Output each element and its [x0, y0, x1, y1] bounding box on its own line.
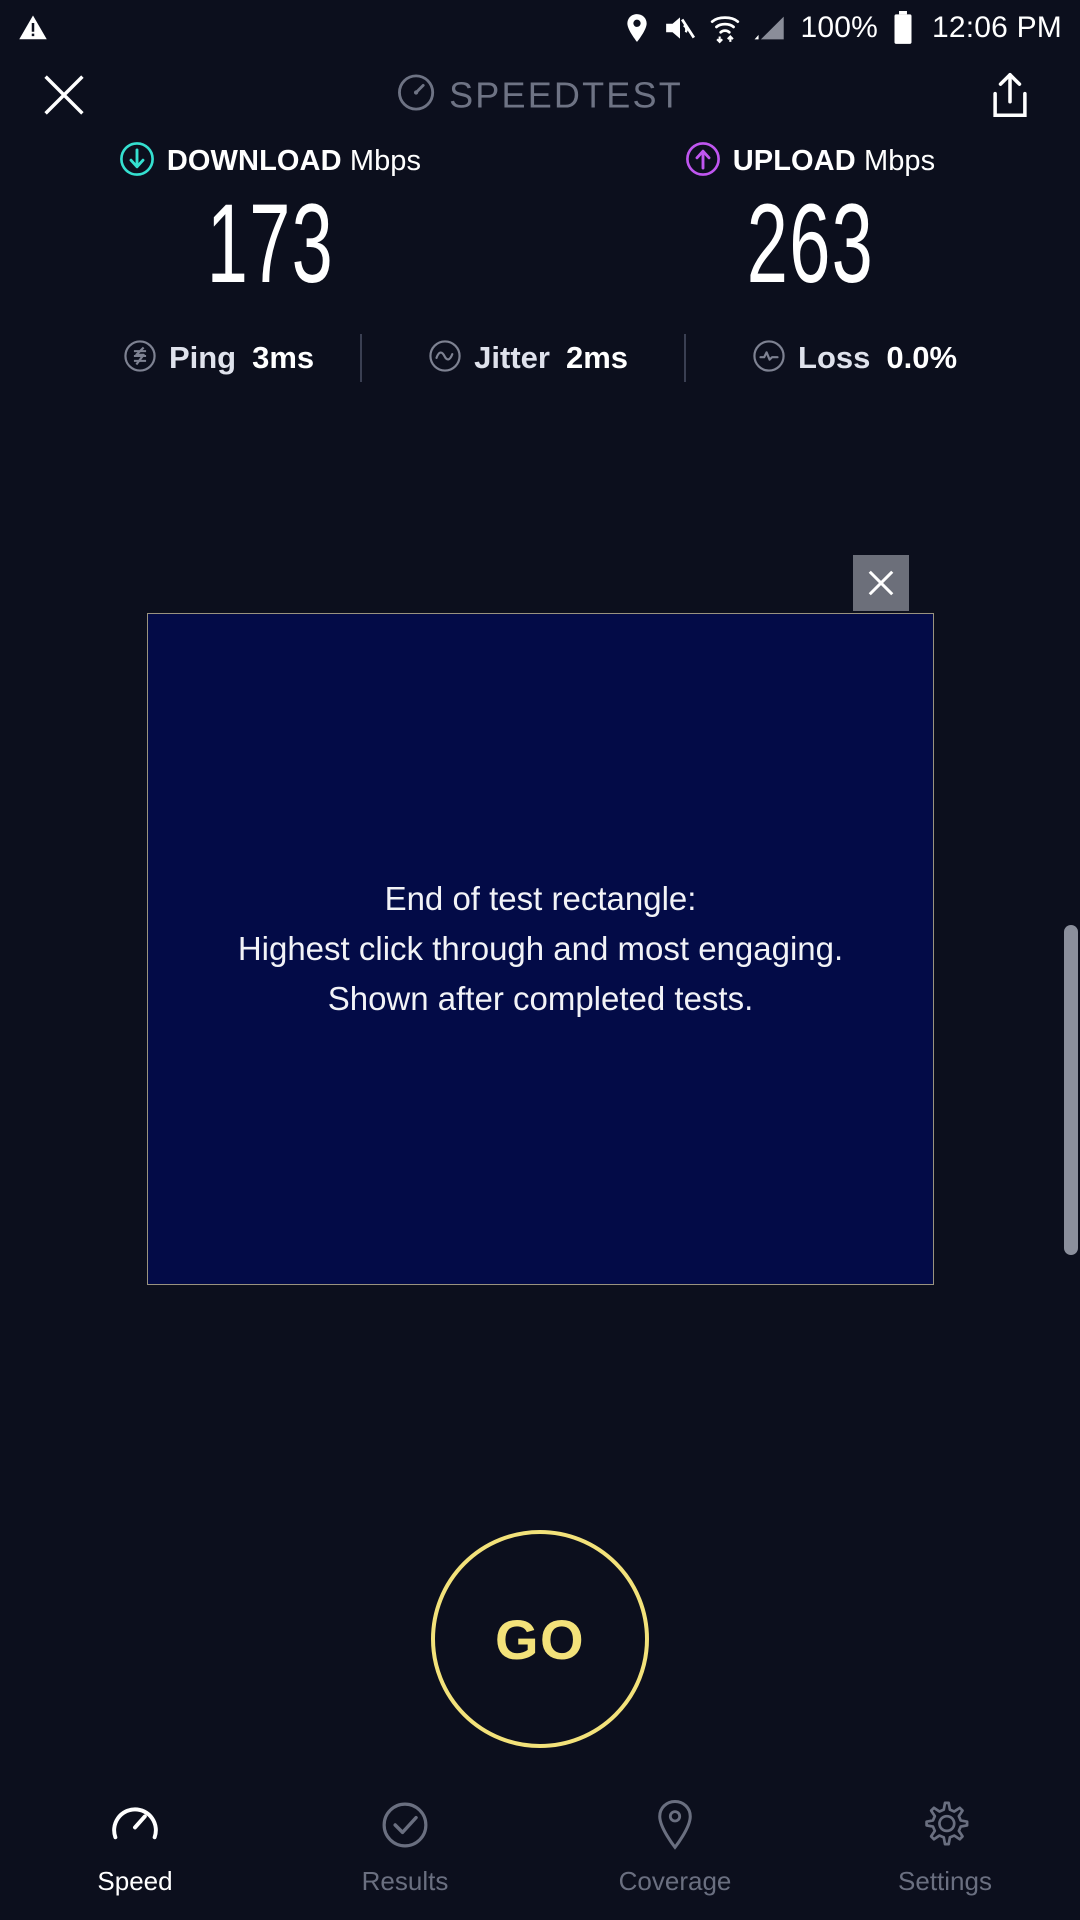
loss-icon [752, 339, 786, 378]
location-pin-icon [624, 13, 650, 43]
speedometer-icon [397, 74, 435, 117]
brand: SPEEDTEST [397, 74, 683, 117]
ad-creative[interactable]: End of test rectangle: Highest click thr… [147, 613, 934, 1285]
metric-ping: Ping 3ms [105, 339, 332, 378]
nav-item-coverage[interactable]: Coverage [540, 1798, 810, 1897]
ad-close-button[interactable] [853, 555, 909, 611]
jitter-label: Jitter [474, 340, 550, 376]
close-icon [41, 72, 87, 118]
upload-value: 263 [746, 188, 873, 300]
go-button[interactable]: GO [431, 1530, 649, 1748]
location-pin-icon [648, 1798, 702, 1852]
download-value: 173 [206, 188, 333, 300]
gear-icon [918, 1798, 972, 1852]
app-bar: SPEEDTEST [0, 56, 1080, 134]
nav-item-settings[interactable]: Settings [810, 1798, 1080, 1897]
status-bar-left [18, 13, 48, 43]
loss-value: 0.0% [886, 340, 957, 376]
upload-label: UPLOAD Mbps [733, 145, 936, 178]
cellular-signal-icon [754, 14, 786, 42]
bottom-navigation: Speed Results Coverage [0, 1780, 1080, 1920]
nav-label-coverage: Coverage [619, 1866, 732, 1897]
upload-header: UPLOAD Mbps [685, 140, 936, 182]
metric-loss: Loss 0.0% [734, 339, 975, 378]
download-readout: DOWNLOAD Mbps 173 [0, 140, 540, 300]
download-header: DOWNLOAD Mbps [119, 140, 421, 182]
advertisement: End of test rectangle: Highest click thr… [147, 613, 934, 1285]
clock-label: 12:06 PM [932, 11, 1062, 45]
status-bar-right: 100% 12:06 PM [624, 11, 1062, 45]
share-button[interactable] [984, 67, 1036, 123]
upload-readout: UPLOAD Mbps 263 [540, 140, 1080, 300]
circle-arrow-down-icon [119, 141, 155, 182]
ad-line-3: Shown after completed tests. [238, 974, 843, 1024]
status-bar: 100% 12:06 PM [0, 0, 1080, 56]
check-circle-icon [378, 1798, 432, 1852]
ping-label: Ping [169, 340, 236, 376]
nav-label-settings: Settings [898, 1866, 992, 1897]
metric-separator [360, 334, 362, 382]
speedtest-app-screen: 100% 12:06 PM SP [0, 0, 1080, 1920]
loss-label: Loss [798, 340, 870, 376]
metric-separator [684, 334, 686, 382]
download-label: DOWNLOAD Mbps [167, 145, 421, 178]
mute-icon [664, 14, 696, 42]
close-button[interactable] [36, 67, 92, 123]
ad-line-1: End of test rectangle: [238, 874, 843, 924]
scrollbar-thumb[interactable] [1064, 925, 1078, 1255]
speed-readouts: DOWNLOAD Mbps 173 UPLOAD Mbps [0, 140, 1080, 300]
jitter-icon [428, 339, 462, 378]
close-icon [866, 568, 896, 598]
ad-line-2: Highest click through and most engaging. [238, 924, 843, 974]
metric-jitter: Jitter 2ms [410, 339, 646, 378]
circle-arrow-up-icon [685, 141, 721, 182]
connection-metrics: Ping 3ms Jitter 2ms [0, 330, 1080, 386]
warning-triangle-icon [18, 13, 48, 43]
brand-title: SPEEDTEST [449, 74, 683, 116]
nav-item-speed[interactable]: Speed [0, 1798, 270, 1897]
nav-item-results[interactable]: Results [270, 1798, 540, 1897]
ping-icon [123, 339, 157, 378]
wifi-icon [710, 12, 740, 44]
battery-percent-label: 100% [800, 11, 878, 45]
battery-full-icon [892, 11, 914, 45]
results-summary: DOWNLOAD Mbps 173 UPLOAD Mbps [0, 140, 1080, 386]
jitter-value: 2ms [566, 340, 628, 376]
speedometer-icon [108, 1798, 162, 1852]
ping-value: 3ms [252, 340, 314, 376]
nav-label-results: Results [362, 1866, 449, 1897]
go-button-label: GO [495, 1607, 585, 1672]
ad-text: End of test rectangle: Highest click thr… [220, 874, 861, 1024]
share-icon [989, 72, 1031, 118]
nav-label-speed: Speed [97, 1866, 172, 1897]
